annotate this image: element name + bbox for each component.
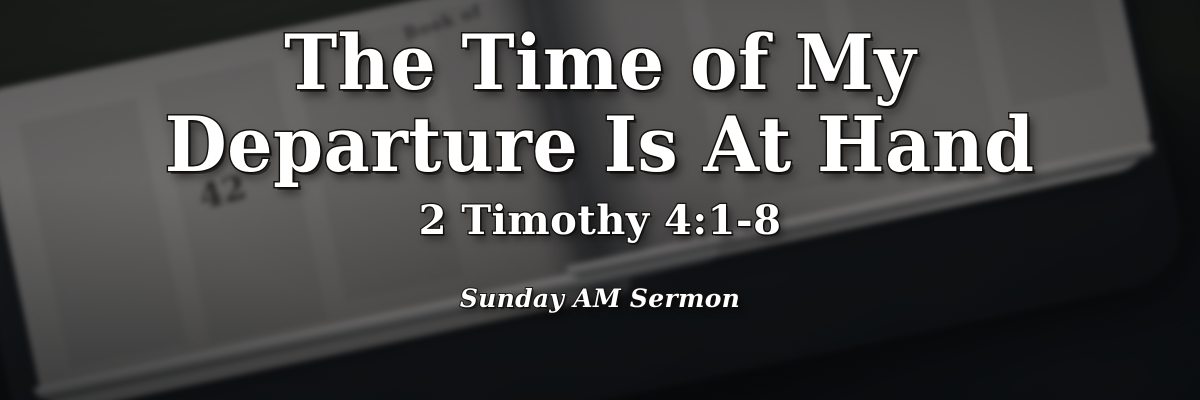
- sermon-title-banner: 42 Book of MS The Time of My Departure I…: [0, 0, 1200, 400]
- sermon-title-line-1: The Time of My: [284, 26, 916, 100]
- sermon-caption: Sunday AM Sermon: [460, 284, 740, 313]
- banner-content: The Time of My Departure Is At Hand 2 Ti…: [0, 0, 1200, 400]
- scripture-reference: 2 Timothy 4:1-8: [419, 197, 782, 244]
- sermon-title-line-2: Departure Is At Hand: [165, 108, 1035, 182]
